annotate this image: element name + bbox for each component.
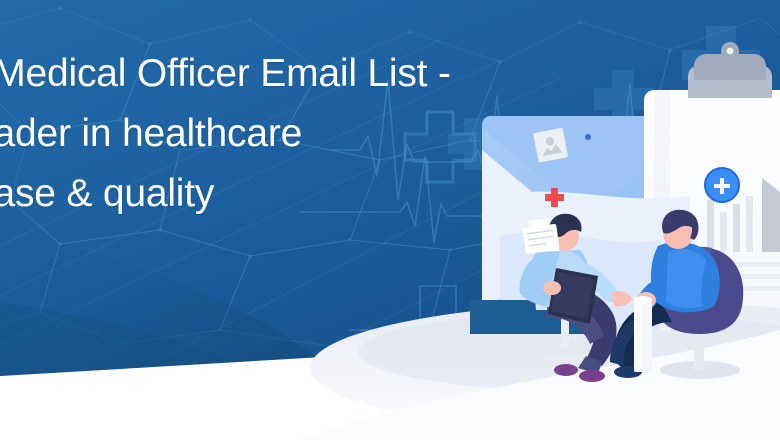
side-table xyxy=(634,296,652,372)
page-title: f Medical Officer Email List - eader in … xyxy=(0,44,572,224)
hero-banner: f Medical Officer Email List - eader in … xyxy=(0,0,780,440)
headline-line-2: eader in healthcare xyxy=(0,104,572,164)
plus-circle-icon xyxy=(704,167,740,203)
headline-line-3: base & quality xyxy=(0,164,572,224)
headline-line-1: f Medical Officer Email List - xyxy=(0,44,572,104)
paper-sheet-behind xyxy=(522,224,559,254)
envelope-dot xyxy=(585,134,591,140)
